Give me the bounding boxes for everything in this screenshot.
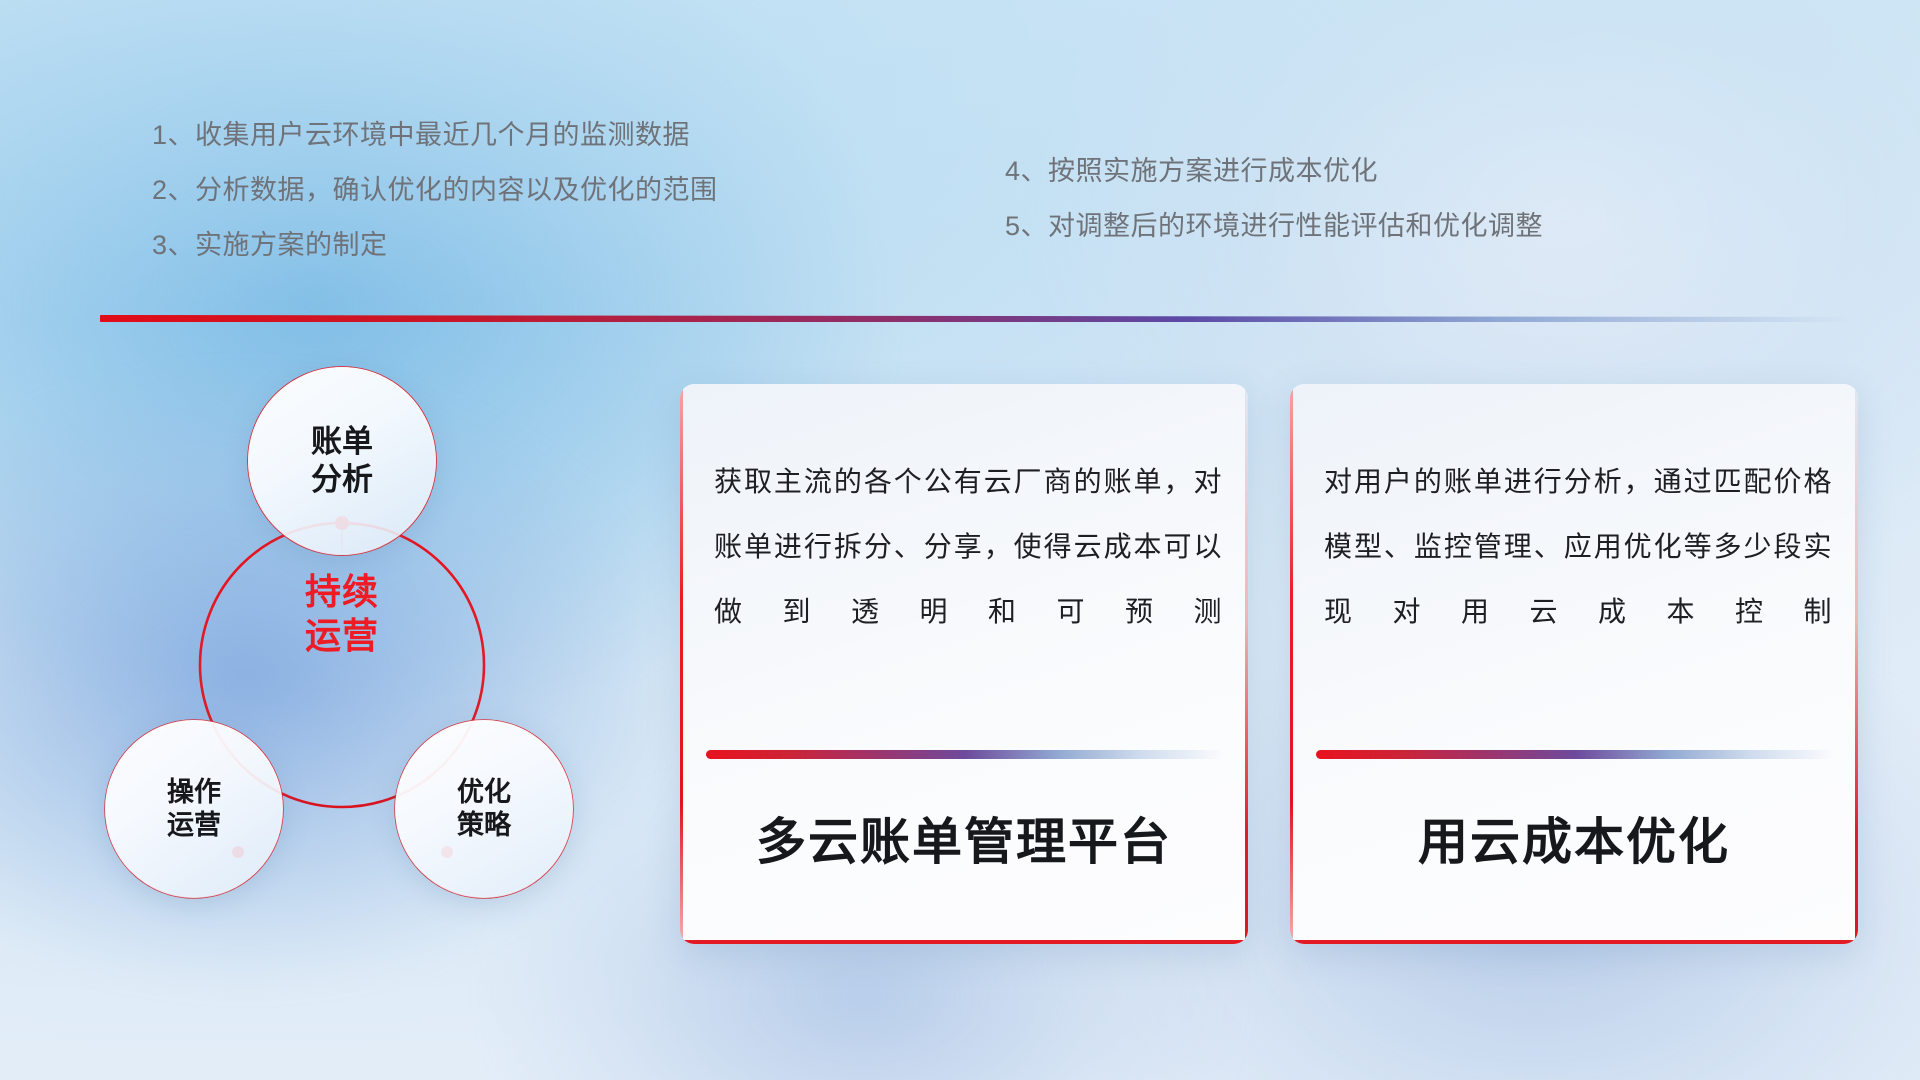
bubble-operations[interactable]: 操作 运营 <box>105 720 283 898</box>
step-item-1: 1、收集用户云环境中最近几个月的监测数据 <box>152 122 718 149</box>
bubble-optimization-strategy[interactable]: 优化 策略 <box>395 720 573 898</box>
card-body-text: 对用户的账单进行分析，通过匹配价格模型、监控管理、应用优化等多少段实现对用云成本… <box>1324 450 1832 645</box>
bubble-line-2: 运营 <box>167 810 221 840</box>
steps-right-column: 4、按照实施方案进行成本优化 5、对调整后的环境进行性能评估和优化调整 <box>1005 158 1543 268</box>
step-item-2: 2、分析数据，确认优化的内容以及优化的范围 <box>152 177 718 204</box>
step-item-5: 5、对调整后的环境进行性能评估和优化调整 <box>1005 213 1543 240</box>
steps-left-column: 1、收集用户云环境中最近几个月的监测数据 2、分析数据，确认优化的内容以及优化的… <box>152 122 718 287</box>
bubble-line-2: 分析 <box>311 462 373 497</box>
bubble-bill-analysis-label: 账单 分析 <box>311 423 373 499</box>
bubble-line-1: 账单 <box>311 424 373 459</box>
bubble-line-1: 操作 <box>167 777 221 807</box>
bubble-optimization-strategy-label: 优化 策略 <box>457 776 511 842</box>
card-title: 用云成本优化 <box>1290 802 1858 874</box>
card-accent-rule <box>706 750 1224 759</box>
card-title: 多云账单管理平台 <box>680 802 1248 874</box>
card-accent-rule <box>1316 750 1834 759</box>
step-item-4: 4、按照实施方案进行成本优化 <box>1005 158 1543 185</box>
diagram-center-label: 持续 运营 <box>248 570 436 658</box>
bubble-bill-analysis[interactable]: 账单 分析 <box>248 367 436 555</box>
bubble-line-1: 优化 <box>457 777 511 807</box>
step-item-3: 3、实施方案的制定 <box>152 232 718 259</box>
card-multi-cloud-billing-platform[interactable]: 获取主流的各个公有云厂商的账单，对账单进行拆分、分享，使得云成本可以做到透明和可… <box>680 384 1248 944</box>
card-body-text: 获取主流的各个公有云厂商的账单，对账单进行拆分、分享，使得云成本可以做到透明和可… <box>714 450 1222 645</box>
center-label-line-2: 运营 <box>305 615 379 656</box>
card-bottom-bar <box>680 940 1248 944</box>
bubble-line-2: 策略 <box>457 810 511 840</box>
continuous-operations-diagram: 账单 分析 操作 运营 优化 策略 持续 运营 <box>95 355 635 945</box>
card-bottom-bar <box>1290 940 1858 944</box>
card-cloud-cost-optimization[interactable]: 对用户的账单进行分析，通过匹配价格模型、监控管理、应用优化等多少段实现对用云成本… <box>1290 384 1858 944</box>
bubble-operations-label: 操作 运营 <box>167 776 221 842</box>
center-label-line-1: 持续 <box>305 571 379 612</box>
